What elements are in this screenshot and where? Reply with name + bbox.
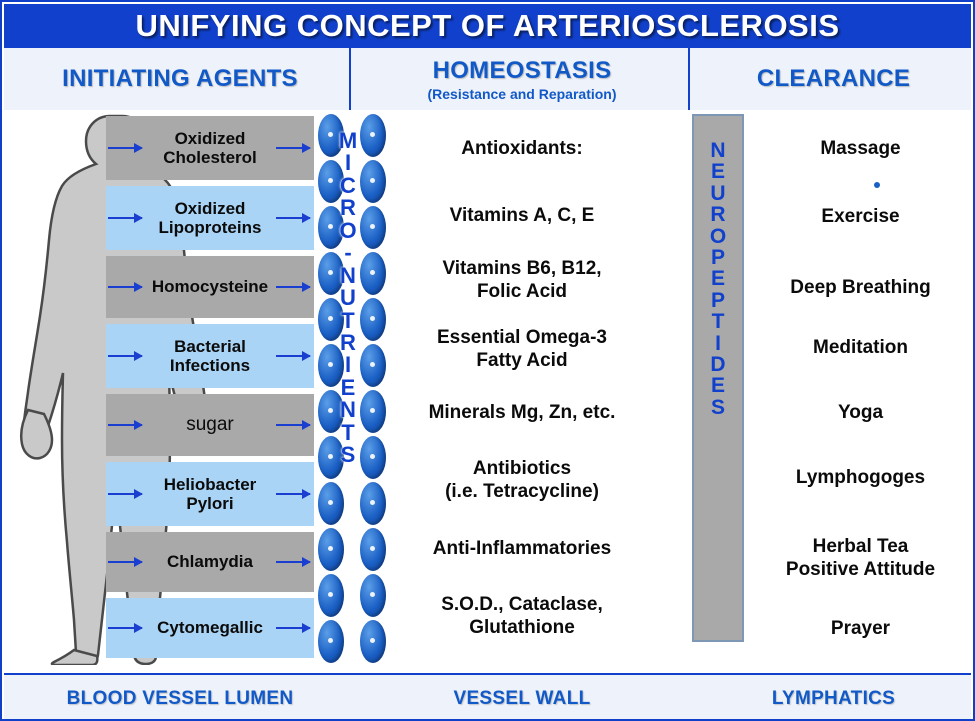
clearance-item: Meditation — [748, 337, 973, 360]
column-header-homeostasis-sublabel: (Resistance and Reparation) — [427, 86, 616, 102]
column-header-band: INITIATING AGENTS HOMEOSTASIS (Resistanc… — [4, 48, 971, 112]
outflow-arrow-icon — [276, 147, 310, 149]
clearance-item: Exercise — [748, 206, 973, 229]
inflow-arrow-icon — [108, 355, 142, 357]
footer-blood-vessel-lumen: BLOOD VESSEL LUMEN — [10, 675, 350, 721]
micronutrient-vertical-label: MICRO -NUTR IENTS — [330, 130, 366, 467]
column-header-initiating-agents: INITIATING AGENTS — [10, 48, 350, 110]
inflow-arrow-icon — [108, 147, 142, 149]
homeostasis-item: Vitamins B6, B12, Folic Acid — [354, 258, 690, 304]
clearance-item: Yoga — [748, 402, 973, 425]
neuropeptides-vertical-label: NEURO PEPTI DES — [692, 140, 744, 418]
initiating-agent-label: Chlamydia — [151, 552, 269, 571]
column-footer-band: BLOOD VESSEL LUMEN VESSEL WALL LYMPHATIC… — [4, 673, 971, 721]
initiating-agent-band: Homocysteine — [106, 256, 314, 318]
initiating-agent-band: Oxidized Lipoproteins — [106, 186, 314, 250]
clearance-item: Deep Breathing — [748, 277, 973, 300]
initiating-agent-label: Homocysteine — [136, 277, 284, 296]
inflow-arrow-icon — [108, 627, 142, 629]
initiating-agent-label: sugar — [170, 414, 250, 435]
homeostasis-item: Vitamins A, C, E — [354, 205, 690, 228]
column-header-homeostasis: HOMEOSTASIS (Resistance and Reparation) — [354, 48, 690, 110]
homeostasis-item: Anti-Inflammatories — [354, 538, 690, 561]
outflow-arrow-icon — [276, 493, 310, 495]
homeostasis-item: S.O.D., Cataclase, Glutathione — [354, 594, 690, 640]
homeostasis-item: Antibiotics (i.e. Tetracycline) — [354, 458, 690, 504]
outflow-arrow-icon — [276, 561, 310, 563]
inflow-arrow-icon — [108, 561, 142, 563]
clearance-item: Herbal Tea Positive Attitude — [748, 536, 973, 582]
initiating-agent-label: Oxidized Lipoproteins — [143, 199, 278, 237]
page-title: UNIFYING CONCEPT OF ARTERIOSCLEROSIS — [135, 8, 839, 44]
outflow-arrow-icon — [276, 424, 310, 426]
inflow-arrow-icon — [108, 424, 142, 426]
inflow-arrow-icon — [108, 217, 142, 219]
initiating-agent-label: Bacterial Infections — [154, 337, 266, 375]
outflow-arrow-icon — [276, 217, 310, 219]
diagram-canvas: UNIFYING CONCEPT OF ARTERIOSCLEROSIS INI… — [0, 0, 975, 721]
initiating-agent-band: Heliobacter Pylori — [106, 462, 314, 526]
clearance-item: Prayer — [748, 618, 973, 641]
column-header-clearance-label: CLEARANCE — [757, 65, 910, 93]
diagram-body: Oxidized Cholesterol Oxidized Lipoprotei… — [4, 110, 971, 673]
initiating-agent-band: Oxidized Cholesterol — [106, 116, 314, 180]
column-header-initiating-agents-label: INITIATING AGENTS — [62, 65, 298, 93]
clearance-item: Lymphogoges — [748, 467, 973, 490]
footer-vessel-wall: VESSEL WALL — [354, 675, 690, 721]
footer-lymphatics: LYMPHATICS — [694, 675, 973, 721]
column-header-homeostasis-label: HOMEOSTASIS — [433, 57, 612, 85]
homeostasis-item: Essential Omega-3 Fatty Acid — [354, 327, 690, 373]
clearance-column: NEURO PEPTI DES Massage Exercise Deep Br… — [692, 110, 973, 673]
initiating-agent-label: Heliobacter Pylori — [148, 475, 273, 513]
column-header-clearance: CLEARANCE — [694, 48, 973, 110]
clearance-item: Massage — [748, 138, 973, 161]
initiating-agent-band: Bacterial Infections — [106, 324, 314, 388]
homeostasis-item: Minerals Mg, Zn, etc. — [354, 402, 690, 425]
homeostasis-column: Antioxidants: Vitamins A, C, E Vitamins … — [354, 110, 690, 673]
initiating-agent-band: Chlamydia — [106, 532, 314, 592]
outflow-arrow-icon — [276, 355, 310, 357]
initiating-agent-band: Cytomegallic — [106, 598, 314, 658]
inflow-arrow-icon — [108, 493, 142, 495]
initiating-agent-label: Cytomegallic — [141, 618, 279, 637]
homeostasis-item: Antioxidants: — [354, 138, 690, 161]
initiating-agent-label: Oxidized Cholesterol — [147, 129, 273, 167]
initiating-agent-band: sugar — [106, 394, 314, 456]
outflow-arrow-icon — [276, 627, 310, 629]
decorative-dot-icon — [874, 182, 880, 188]
diagram-title-bar: UNIFYING CONCEPT OF ARTERIOSCLEROSIS — [4, 4, 971, 48]
initiating-agents-column: Oxidized Cholesterol Oxidized Lipoprotei… — [8, 110, 351, 673]
